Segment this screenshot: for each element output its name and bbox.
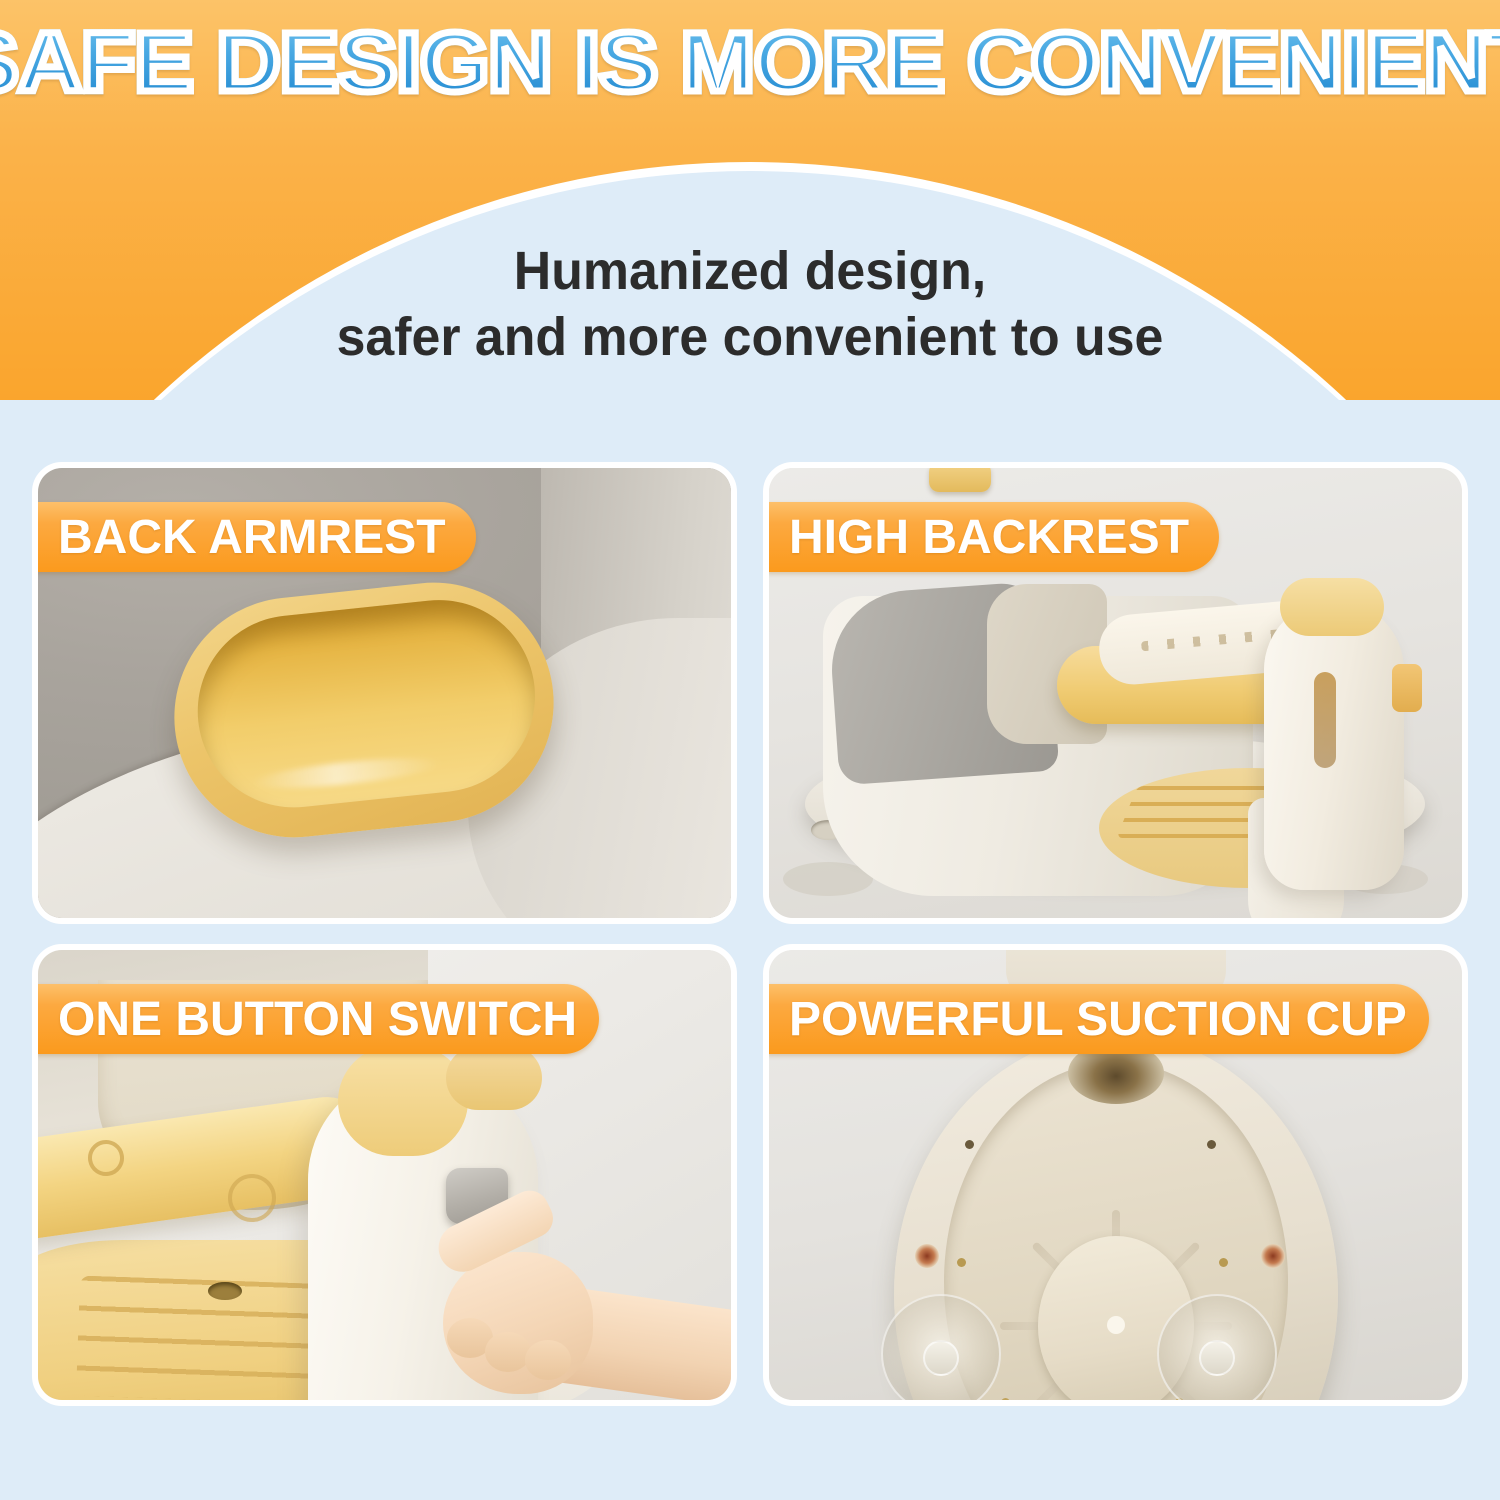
armrest-handle-cavity [188,591,544,817]
page-title: SAFE DESIGN IS MORE CONVENIENT [0,10,1500,114]
backrest-hub-seam [1314,672,1336,768]
base-vent-hole [1001,1398,1010,1400]
page-subtitle-line-1: Humanized design, [514,241,986,301]
feature-panel-back-armrest[interactable]: BACK ARMREST [32,462,737,924]
panel-label-one-button-switch: ONE BUTTON SWITCH [36,984,599,1054]
base-screw-left [915,1244,939,1268]
feature-panel-grid: BACK ARMREST [32,462,1468,1406]
base-vent-hole [1207,1140,1216,1149]
knuckle-2 [485,1332,531,1372]
page-subtitle-line-2: safer and more convenient to use [30,304,1470,370]
panel-label-back-armrest: BACK ARMREST [36,502,476,572]
base-vent-hole [1219,1258,1228,1267]
feature-panel-powerful-suction-cup[interactable]: POWERFUL SUCTION CUP [763,944,1468,1406]
suction-cup-nub [923,1340,959,1376]
panel-label-powerful-suction-cup: POWERFUL SUCTION CUP [767,984,1429,1054]
switch-seat-ribs [76,1275,340,1400]
switch-armrest-detail-o [228,1174,276,1222]
panel-label-high-backrest: HIGH BACKREST [767,502,1219,572]
backrest-hub-cap [1280,578,1384,636]
switch-hub-yellow-wing [446,1046,542,1110]
switch-seat-hole [208,1282,242,1300]
panel-label-text: BACK ARMREST [58,510,446,565]
page-title-text: SAFE DESIGN IS MORE CONVENIENT [0,10,1500,114]
feature-panel-high-backrest[interactable]: HIGH BACKREST [763,462,1468,924]
panel-label-text: ONE BUTTON SWITCH [58,992,577,1047]
panel-label-text: POWERFUL SUCTION CUP [789,992,1407,1047]
product-feature-poster: SAFE DESIGN IS MORE CONVENIENT Humanized… [0,0,1500,1500]
base-vent-hole [957,1258,966,1267]
suction-cup-nub [1199,1340,1235,1376]
backrest-top-chip [929,468,991,492]
page-subtitle: Humanized design, safer and more conveni… [30,238,1470,370]
base-screw-right [1261,1244,1285,1268]
backrest-hub-button [1392,664,1422,712]
feature-panel-one-button-switch[interactable]: ONE BUTTON SWITCH [32,944,737,1406]
knuckle-3 [525,1340,571,1380]
base-vent-hole [965,1140,974,1149]
hand-pressing-button [421,1200,731,1400]
panel-label-text: HIGH BACKREST [789,510,1189,565]
base-center-dot [1107,1316,1125,1334]
